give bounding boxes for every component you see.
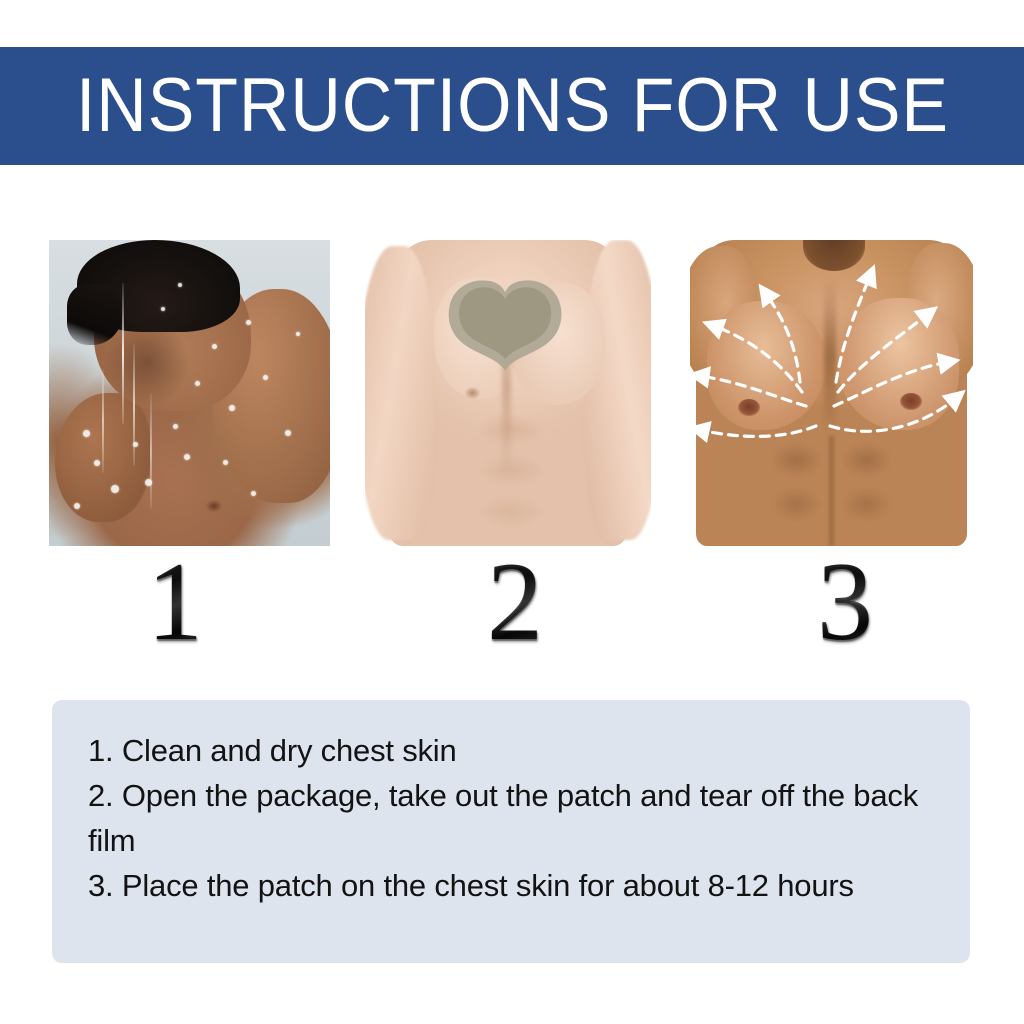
torso-abdominals xyxy=(457,411,566,540)
torso-with-patch-photo xyxy=(365,240,651,546)
step-2-panel xyxy=(365,240,651,546)
instructions-list: 1. Clean and dry chest skin 2. Open the … xyxy=(88,728,934,908)
massage-direction-arrows-icon xyxy=(690,240,973,546)
instruction-item-1: 1. Clean and dry chest skin xyxy=(88,728,934,773)
header-banner: INSTRUCTIONS FOR USE xyxy=(0,47,1024,165)
instruction-item-2: 2. Open the package, take out the patch … xyxy=(88,773,934,863)
torso-right-arm xyxy=(585,240,651,540)
water-droplets xyxy=(49,240,330,546)
step-numbers-row: 1 2 3 xyxy=(0,548,1024,658)
chest-with-arrows-photo xyxy=(690,240,973,546)
step-number-2: 2 xyxy=(455,548,575,656)
step-images-row xyxy=(0,240,1024,546)
torso-nipple xyxy=(465,387,480,399)
instructions-box: 1. Clean and dry chest skin 2. Open the … xyxy=(52,700,970,963)
step-1-panel xyxy=(49,240,330,546)
man-showering-photo xyxy=(49,240,330,546)
chest-patch-graphic xyxy=(445,277,565,372)
step-number-1: 1 xyxy=(115,548,235,656)
page-title: INSTRUCTIONS FOR USE xyxy=(75,68,948,144)
step-3-panel xyxy=(690,240,973,546)
torso-left-arm xyxy=(365,246,434,540)
instruction-item-3: 3. Place the patch on the chest skin for… xyxy=(88,863,934,908)
step-number-3: 3 xyxy=(785,548,905,656)
patch-inner-area xyxy=(445,277,565,372)
